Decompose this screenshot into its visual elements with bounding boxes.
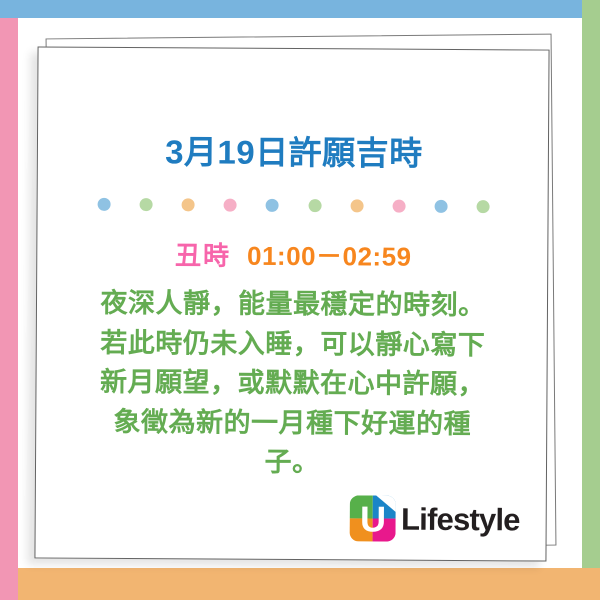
- logo-letter-u: U: [360, 501, 386, 537]
- frame-edge-top: [0, 0, 582, 18]
- divider-dot: [350, 200, 363, 213]
- divider-dot-row: [98, 198, 490, 213]
- hour-range-label: 01:00－02:59: [247, 236, 412, 274]
- paper-card-front: 3月19日許願吉時 丑時 01:00－02:59: [34, 46, 549, 561]
- divider-dot: [98, 198, 111, 211]
- frame-edge-left: [0, 18, 18, 600]
- poster-canvas: 3月19日許願吉時 丑時 01:00－02:59: [0, 0, 600, 600]
- hour-description-text: 夜深人靜，能量最穩定的時刻。若此時仍未入睡，可以靜心寫下新月願望，或默默在心中許…: [92, 284, 493, 483]
- page-title: 3月19日許願吉時: [165, 134, 423, 172]
- card-content: 3月19日許願吉時 丑時 01:00－02:59: [72, 66, 515, 545]
- divider-dot: [477, 200, 490, 213]
- u-logo-icon: U: [350, 495, 396, 541]
- divider-dot: [308, 199, 321, 212]
- logo-wordmark: Lifestyle: [401, 503, 520, 535]
- divider-dot: [224, 199, 237, 212]
- divider-dot: [434, 200, 447, 213]
- paper-card-stack: 3月19日許願吉時 丑時 01:00－02:59: [30, 32, 560, 562]
- hour-heading: 丑時 01:00－02:59: [175, 236, 412, 274]
- divider-dot: [392, 200, 405, 213]
- divider-dot: [266, 199, 279, 212]
- frame-edge-right: [582, 0, 600, 582]
- hour-name-label: 丑時: [175, 236, 231, 273]
- frame-edge-bottom: [18, 568, 600, 600]
- divider-dot: [182, 199, 195, 212]
- divider-dot: [140, 198, 153, 211]
- u-lifestyle-logo: U Lifestyle: [350, 495, 520, 542]
